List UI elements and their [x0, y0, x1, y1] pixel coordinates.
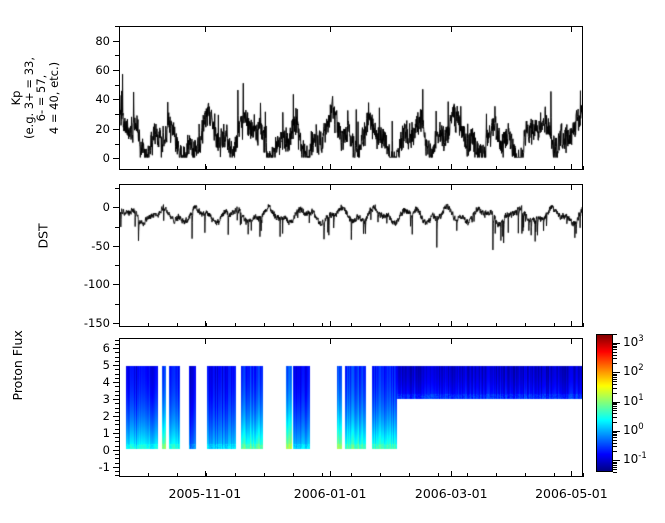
- ytick-label: 40: [95, 92, 110, 106]
- axis-tick: [330, 338, 331, 344]
- ytick-label: 80: [95, 34, 110, 48]
- axis-tick: [380, 323, 381, 327]
- axis-tick: [467, 473, 468, 477]
- kp-axis-title-line-2: 6- = 57,: [35, 28, 48, 168]
- ytick-label: 0: [103, 443, 110, 457]
- axis-tick: [613, 403, 617, 404]
- dst-series-canvas: [120, 185, 582, 326]
- axis-tick: [119, 323, 120, 327]
- axis-tick: [613, 352, 617, 353]
- axis-tick: [322, 166, 323, 170]
- axis-tick: [322, 323, 323, 327]
- axis-tick: [583, 166, 584, 170]
- kp-axis-title-line-3: 4 = 40, etc.): [48, 28, 61, 168]
- axis-tick: [235, 323, 236, 327]
- axis-tick: [115, 340, 119, 341]
- ytick-label: -150: [84, 316, 110, 330]
- axis-tick: [613, 379, 617, 380]
- axis-tick: [554, 323, 555, 327]
- axis-tick: [115, 369, 119, 370]
- axis-tick: [330, 184, 331, 190]
- colorbar-exponent: 0: [638, 422, 643, 432]
- colorbar-tick-label: 100: [623, 422, 644, 437]
- axis-tick: [613, 393, 617, 394]
- axis-tick: [115, 441, 119, 442]
- colorbar-frame: [596, 334, 613, 472]
- axis-tick: [613, 463, 617, 464]
- axis-tick: [115, 85, 119, 86]
- axis-tick: [613, 408, 617, 409]
- axis-tick: [409, 323, 410, 327]
- axis-tick: [496, 323, 497, 327]
- axis-tick: [583, 473, 584, 477]
- axis-tick: [613, 363, 617, 364]
- axis-tick: [613, 465, 617, 466]
- axis-tick: [613, 443, 617, 444]
- ytick-label: 60: [95, 63, 110, 77]
- axis-tick: [115, 265, 119, 266]
- axis-tick: [205, 26, 206, 32]
- axis-tick: [148, 473, 149, 477]
- axis-tick: [613, 446, 617, 447]
- axis-tick: [115, 188, 119, 189]
- axis-tick: [205, 184, 206, 190]
- axis-tick: [613, 437, 617, 438]
- axis-tick: [613, 347, 617, 348]
- axis-tick: [409, 166, 410, 170]
- ytick-label: 0: [103, 200, 110, 214]
- axis-tick: [115, 391, 119, 392]
- axis-tick: [330, 26, 331, 32]
- axis-tick: [115, 403, 119, 404]
- axis-tick: [613, 374, 617, 375]
- axis-tick: [113, 284, 119, 285]
- axis-tick: [451, 184, 452, 190]
- axis-tick: [451, 26, 452, 32]
- axis-tick: [115, 361, 119, 362]
- axis-tick: [115, 437, 119, 438]
- ytick-label: -100: [84, 277, 110, 291]
- axis-tick: [113, 207, 119, 208]
- axis-tick: [115, 424, 119, 425]
- axis-tick: [115, 458, 119, 459]
- axis-tick: [613, 435, 617, 436]
- axis-tick: [264, 323, 265, 327]
- colorbar-tick-label: 103: [623, 334, 644, 349]
- colorbar-exponent: 3: [638, 334, 643, 344]
- x-axis-tick-label: 2005-11-01: [150, 486, 260, 501]
- axis-tick: [613, 462, 617, 463]
- axis-tick: [571, 471, 572, 477]
- axis-tick: [148, 323, 149, 327]
- axis-tick: [115, 454, 119, 455]
- axis-tick: [115, 429, 119, 430]
- axis-tick: [613, 334, 617, 335]
- axis-tick: [119, 473, 120, 477]
- proton-flux-axis-title: Proton Flux: [10, 330, 25, 400]
- axis-tick: [525, 166, 526, 170]
- axis-tick: [554, 473, 555, 477]
- axis-tick: [451, 321, 452, 327]
- ytick-label: -50: [91, 239, 110, 253]
- axis-tick: [113, 467, 119, 468]
- axis-tick: [293, 473, 294, 477]
- axis-tick: [525, 323, 526, 327]
- colorbar-tick-label: 101: [623, 393, 644, 408]
- axis-tick: [115, 144, 119, 145]
- axis-tick: [451, 471, 452, 477]
- axis-tick: [380, 166, 381, 170]
- axis-tick: [613, 384, 617, 385]
- axis-tick: [115, 344, 119, 345]
- axis-tick: [496, 166, 497, 170]
- axis-tick: [613, 344, 617, 345]
- axis-tick: [115, 227, 119, 228]
- axis-tick: [177, 323, 178, 327]
- proton-flux-heatmap-canvas: [120, 339, 582, 476]
- axis-tick: [115, 304, 119, 305]
- ytick-label: 6: [103, 341, 110, 355]
- axis-tick: [113, 129, 119, 130]
- axis-tick: [613, 432, 617, 433]
- ytick-label: 2: [103, 409, 110, 423]
- axis-tick: [113, 433, 119, 434]
- x-axis-tick-label: 2006-01-01: [275, 486, 385, 501]
- kp-series-canvas: [120, 27, 582, 169]
- colorbar-exponent: 2: [638, 363, 643, 373]
- axis-tick: [177, 166, 178, 170]
- axis-tick: [115, 471, 119, 472]
- axis-tick: [113, 416, 119, 417]
- axis-tick: [330, 164, 331, 170]
- ytick-label: 4: [103, 375, 110, 389]
- axis-tick: [613, 404, 617, 405]
- figure-root: 020406080 Kp (e.g. 3+ = 33, 6- = 57, 4 =…: [0, 0, 665, 523]
- ytick-label: 3: [103, 392, 110, 406]
- axis-tick: [380, 473, 381, 477]
- axis-tick: [115, 420, 119, 421]
- axis-tick: [113, 158, 119, 159]
- axis-tick: [351, 473, 352, 477]
- axis-tick: [583, 323, 584, 327]
- axis-tick: [113, 365, 119, 366]
- axis-tick: [148, 166, 149, 170]
- colorbar-exponent: -1: [638, 451, 646, 461]
- axis-tick: [351, 166, 352, 170]
- axis-tick: [115, 446, 119, 447]
- axis-tick: [613, 467, 617, 468]
- axis-tick: [467, 166, 468, 170]
- colorbar-exponent: 1: [638, 393, 643, 403]
- axis-tick: [613, 422, 617, 423]
- ytick-label: 0: [103, 151, 110, 165]
- axis-tick: [115, 412, 119, 413]
- axis-tick: [205, 338, 206, 344]
- axis-tick: [451, 338, 452, 344]
- ytick-label: -1: [99, 460, 110, 474]
- axis-tick: [438, 473, 439, 477]
- axis-tick: [113, 41, 119, 42]
- axis-tick: [113, 399, 119, 400]
- axis-tick: [264, 166, 265, 170]
- axis-tick: [613, 410, 617, 411]
- axis-tick: [438, 323, 439, 327]
- axis-tick: [613, 358, 617, 359]
- axis-tick: [115, 352, 119, 353]
- axis-tick: [613, 451, 617, 452]
- axis-tick: [613, 413, 617, 414]
- axis-tick: [351, 323, 352, 327]
- axis-tick: [613, 440, 617, 441]
- axis-tick: [115, 374, 119, 375]
- axis-tick: [115, 386, 119, 387]
- kp-axis-title: Kp (e.g. 3+ = 33, 6- = 57, 4 = 40, etc.): [10, 28, 60, 168]
- axis-tick: [293, 323, 294, 327]
- axis-tick: [496, 473, 497, 477]
- axis-tick: [177, 473, 178, 477]
- axis-tick: [264, 473, 265, 477]
- axis-tick: [115, 357, 119, 358]
- axis-tick: [322, 473, 323, 477]
- axis-tick: [438, 166, 439, 170]
- axis-tick: [613, 434, 617, 435]
- axis-tick: [115, 408, 119, 409]
- kp-axis-title-line-0: Kp: [10, 28, 23, 168]
- axis-tick: [571, 321, 572, 327]
- axis-tick: [571, 338, 572, 344]
- axis-tick: [409, 473, 410, 477]
- axis-tick: [613, 375, 617, 376]
- axis-tick: [571, 164, 572, 170]
- axis-tick: [206, 323, 207, 327]
- axis-tick: [206, 166, 207, 170]
- axis-tick: [113, 348, 119, 349]
- axis-tick: [613, 381, 617, 382]
- axis-tick: [115, 395, 119, 396]
- colorbar-tick-label: 102: [623, 363, 644, 378]
- colorbar-tick-label: 10-1: [623, 451, 647, 466]
- axis-tick: [113, 70, 119, 71]
- ytick-label: 20: [95, 122, 110, 136]
- x-axis-tick-label: 2006-03-01: [396, 486, 506, 501]
- ytick-label: 1: [103, 426, 110, 440]
- axis-tick: [613, 417, 617, 418]
- axis-tick: [613, 406, 617, 407]
- axis-tick: [613, 388, 617, 389]
- axis-tick: [613, 472, 617, 473]
- dst-axis-title: DST: [35, 223, 50, 248]
- axis-tick: [113, 246, 119, 247]
- axis-tick: [525, 473, 526, 477]
- axis-tick: [119, 166, 120, 170]
- axis-tick: [235, 166, 236, 170]
- axis-tick: [113, 450, 119, 451]
- axis-tick: [113, 99, 119, 100]
- axis-tick: [115, 26, 119, 27]
- axis-tick: [115, 55, 119, 56]
- axis-tick: [613, 346, 617, 347]
- axis-tick: [206, 473, 207, 477]
- axis-tick: [613, 377, 617, 378]
- axis-tick: [613, 355, 617, 356]
- axis-tick: [554, 166, 555, 170]
- axis-tick: [115, 114, 119, 115]
- axis-tick: [115, 463, 119, 464]
- axis-tick: [293, 166, 294, 170]
- axis-tick: [571, 184, 572, 190]
- axis-tick: [330, 321, 331, 327]
- axis-tick: [613, 469, 617, 470]
- axis-tick: [467, 323, 468, 327]
- axis-tick: [235, 473, 236, 477]
- axis-tick: [451, 164, 452, 170]
- axis-tick: [330, 471, 331, 477]
- axis-tick: [613, 349, 617, 350]
- axis-tick: [115, 378, 119, 379]
- axis-tick: [113, 382, 119, 383]
- x-axis-tick-label: 2006-05-01: [516, 486, 626, 501]
- ytick-label: 5: [103, 358, 110, 372]
- axis-tick: [571, 26, 572, 32]
